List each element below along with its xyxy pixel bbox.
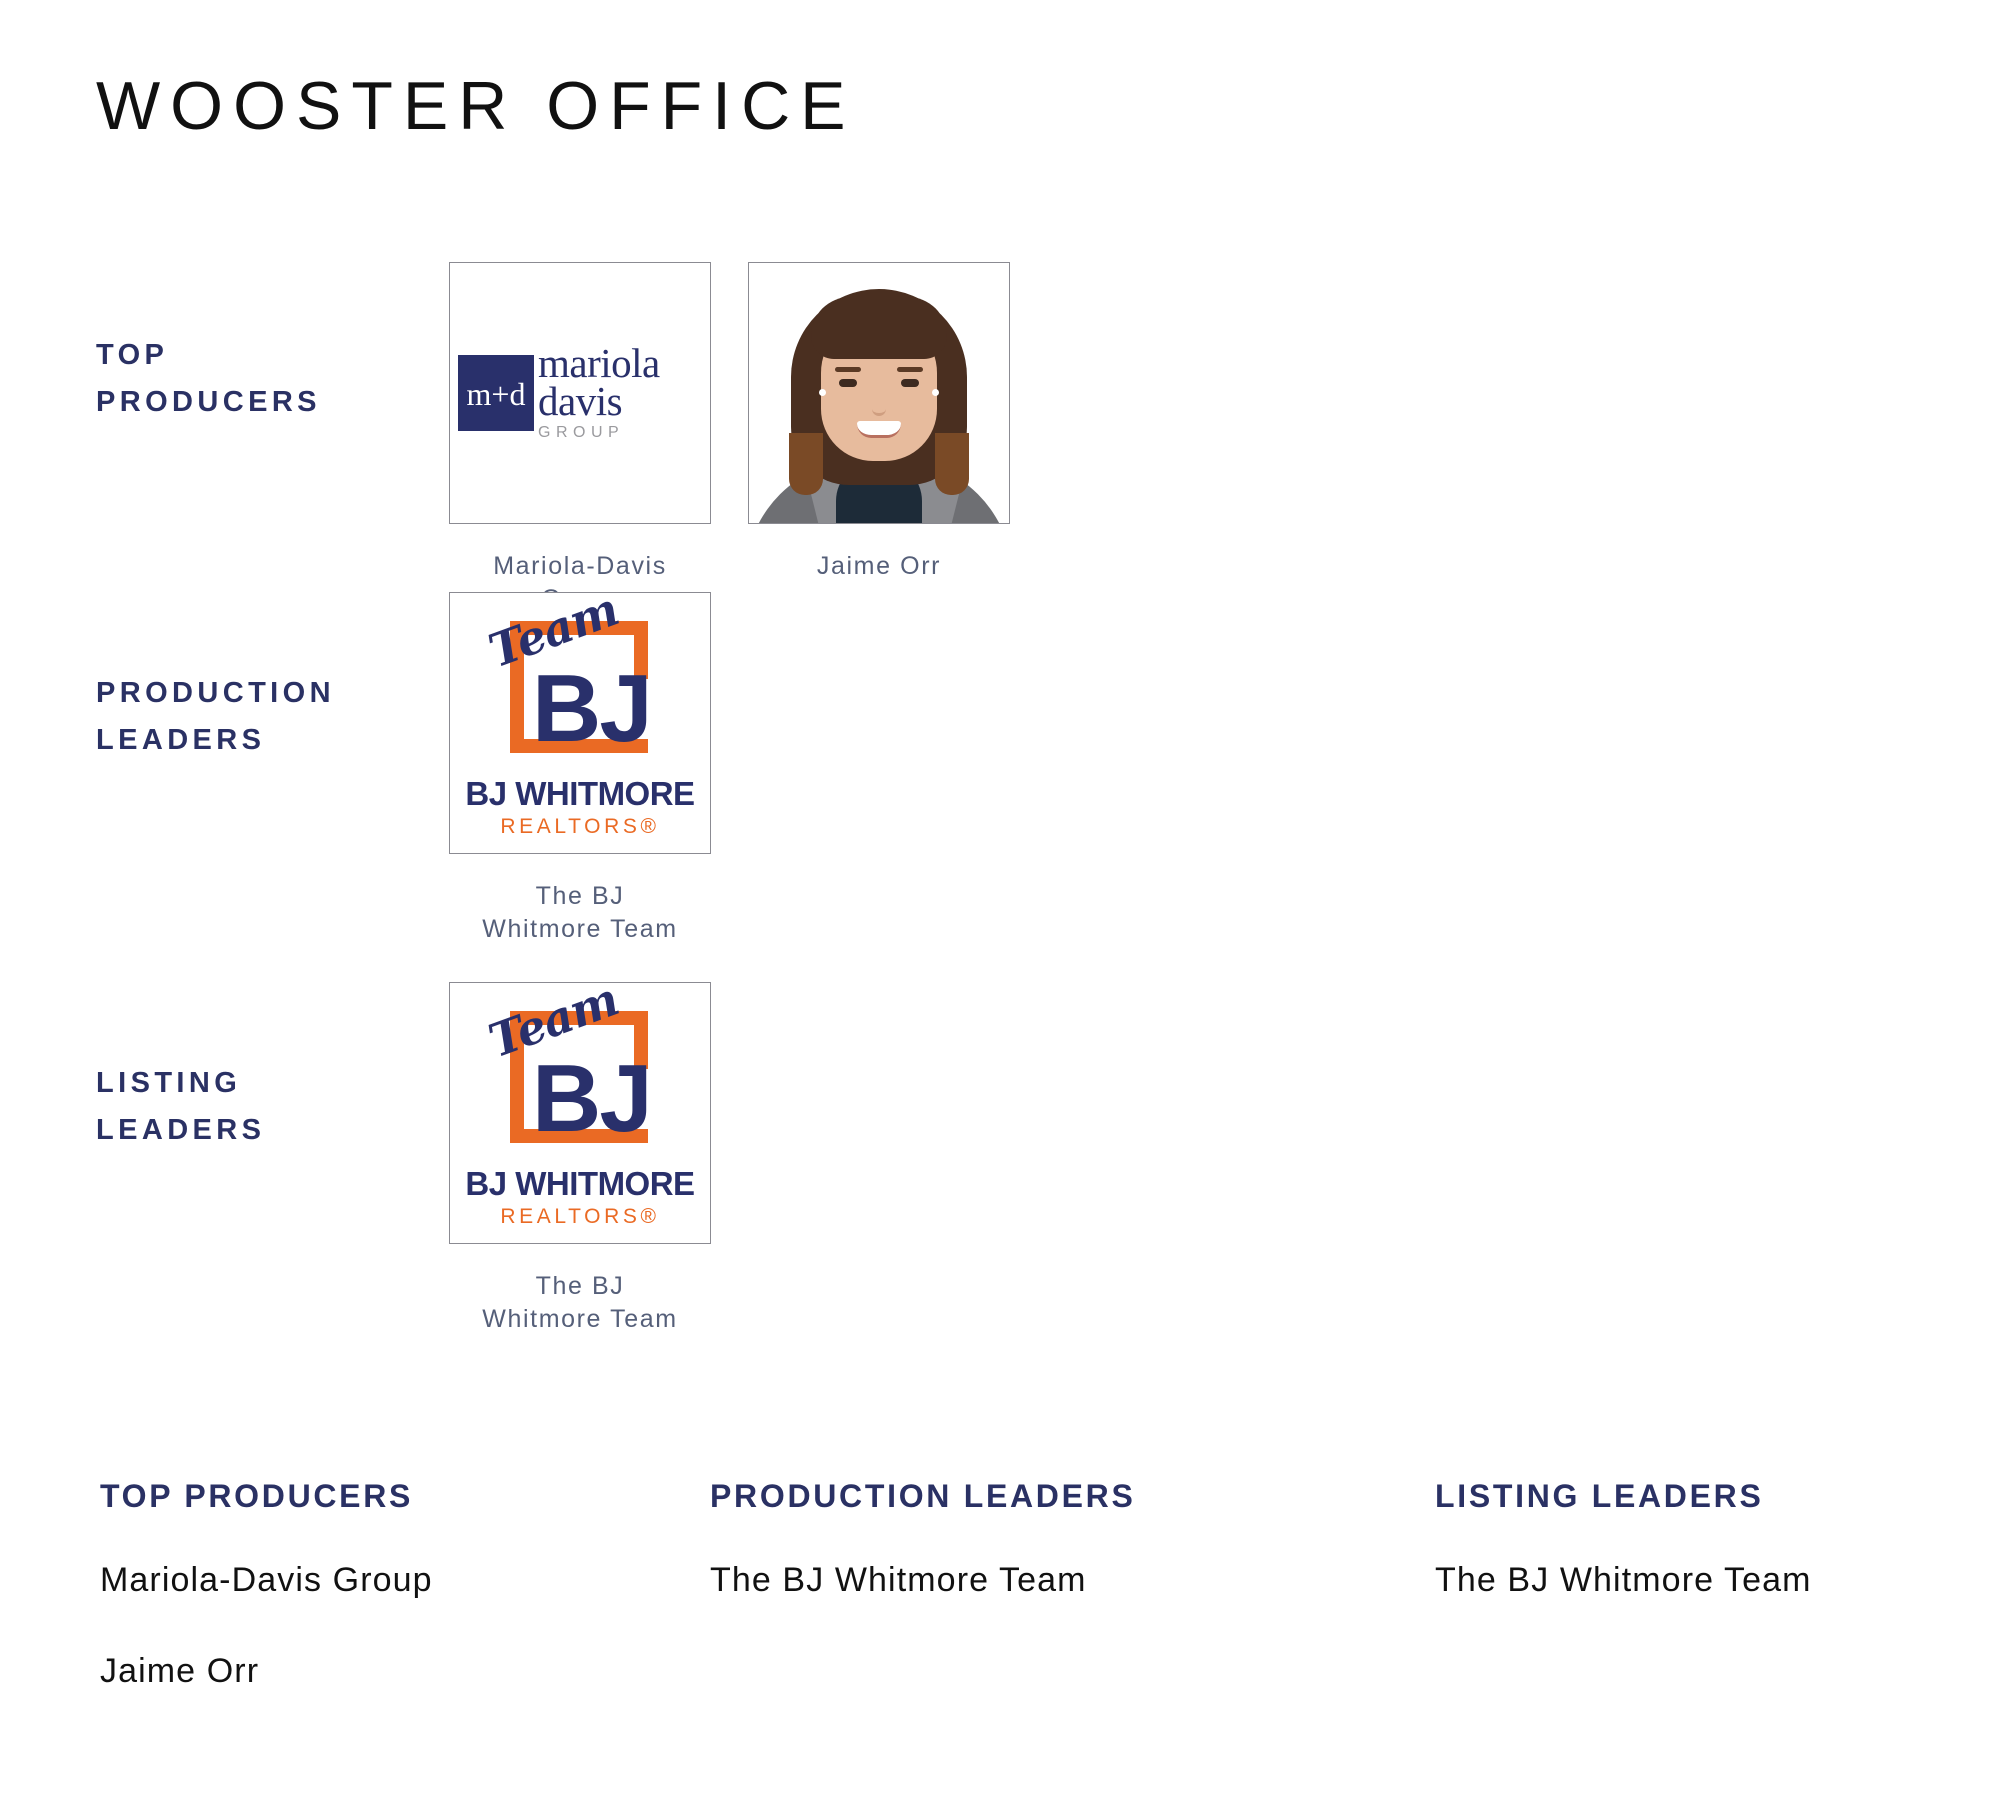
summary-list-item: Jaime Orr xyxy=(100,1652,660,1691)
award-tile[interactable]: m+d mariola davis GROUP Mariola-Davis Gr… xyxy=(448,262,712,616)
tile-image-frame xyxy=(748,262,1010,524)
tile-group-top-producers: m+d mariola davis GROUP Mariola-Davis Gr… xyxy=(448,262,1046,616)
earring-left xyxy=(819,389,826,396)
tile-group-production-leaders: Team BJ BJ WHITMORE REALTORS® The BJ Whi… xyxy=(448,592,747,946)
bj-name-text: BJ WHITMORE xyxy=(450,775,710,813)
bj-name-text: BJ WHITMORE xyxy=(450,1165,710,1203)
award-rows: TOP PRODUCERS m+d mariola davis GROUP xyxy=(0,262,2000,1372)
row-label-line-2: PRODUCERS xyxy=(96,379,426,426)
row-label-line-2: LEADERS xyxy=(96,717,426,764)
row-label-line-1: PRODUCTION xyxy=(96,670,426,717)
smile-shape xyxy=(857,421,901,438)
award-row-listing-leaders: LISTING LEADERS Team BJ BJ WHITMORE REAL… xyxy=(0,982,2000,1372)
jaime-orr-headshot-photo xyxy=(749,263,1009,523)
summary-list: The BJ Whitmore Team xyxy=(1435,1561,1995,1600)
summary-list: Mariola-Davis Group Jaime Orr xyxy=(100,1561,660,1691)
bj-whitmore-team-logo-icon: Team BJ BJ WHITMORE REALTORS® xyxy=(450,593,710,853)
mariola-davis-group-logo-icon: m+d mariola davis GROUP xyxy=(450,263,710,523)
tile-caption: The BJ Whitmore Team xyxy=(473,880,688,946)
tile-image-frame: Team BJ BJ WHITMORE REALTORS® xyxy=(449,982,711,1244)
bj-initials-text: BJ xyxy=(532,1051,651,1147)
row-label-listing-leaders: LISTING LEADERS xyxy=(96,1060,426,1154)
hair-fringe xyxy=(811,297,947,359)
award-tile[interactable]: Jaime Orr xyxy=(747,262,1011,583)
md-monogram-square: m+d xyxy=(458,355,534,431)
summary-list-item: Mariola-Davis Group xyxy=(100,1561,660,1600)
eyebrow-right xyxy=(897,367,923,372)
award-tile[interactable]: Team BJ BJ WHITMORE REALTORS® The BJ Whi… xyxy=(448,982,712,1336)
eyebrow-left xyxy=(835,367,861,372)
eye-right xyxy=(901,379,919,387)
summary-heading: PRODUCTION LEADERS xyxy=(710,1478,1400,1515)
summary-list-item: The BJ Whitmore Team xyxy=(1435,1561,1995,1600)
eye-left xyxy=(839,379,857,387)
nose-shape xyxy=(872,397,886,416)
row-label-line-2: LEADERS xyxy=(96,1107,426,1154)
md-wordmark: mariola davis GROUP xyxy=(538,345,660,440)
bj-whitmore-team-logo-icon: Team BJ BJ WHITMORE REALTORS® xyxy=(450,983,710,1243)
bj-realtors-text: REALTORS® xyxy=(450,815,710,839)
bj-realtors-text: REALTORS® xyxy=(450,1205,710,1229)
summary-column-listing-leaders: LISTING LEADERS The BJ Whitmore Team xyxy=(1435,1478,1995,1652)
hair-tip-right xyxy=(935,433,969,495)
award-row-production-leaders: PRODUCTION LEADERS Team BJ BJ WHITMORE R… xyxy=(0,592,2000,982)
earring-right xyxy=(932,389,939,396)
tile-caption: The BJ Whitmore Team xyxy=(473,1270,688,1336)
summary-heading: LISTING LEADERS xyxy=(1435,1478,1995,1515)
award-row-top-producers: TOP PRODUCERS m+d mariola davis GROUP xyxy=(0,262,2000,592)
summary-list-item: The BJ Whitmore Team xyxy=(710,1561,1400,1600)
md-word-davis: davis xyxy=(538,383,622,421)
tile-caption: Jaime Orr xyxy=(772,550,987,583)
summary-column-production-leaders: PRODUCTION LEADERS The BJ Whitmore Team xyxy=(710,1478,1400,1652)
summary-heading: TOP PRODUCERS xyxy=(100,1478,660,1515)
row-label-top-producers: TOP PRODUCERS xyxy=(96,332,426,426)
row-label-production-leaders: PRODUCTION LEADERS xyxy=(96,670,426,764)
tile-group-listing-leaders: Team BJ BJ WHITMORE REALTORS® The BJ Whi… xyxy=(448,982,747,1336)
tile-image-frame: Team BJ BJ WHITMORE REALTORS® xyxy=(449,592,711,854)
page-title: WOOSTER OFFICE xyxy=(96,72,856,140)
row-label-line-1: LISTING xyxy=(96,1060,426,1107)
summary-list: The BJ Whitmore Team xyxy=(710,1561,1400,1600)
bj-initials-text: BJ xyxy=(532,661,651,757)
row-label-line-1: TOP xyxy=(96,332,426,379)
hair-tip-left xyxy=(789,433,823,495)
tile-image-frame: m+d mariola davis GROUP xyxy=(449,262,711,524)
md-monogram-text: m+d xyxy=(467,378,526,410)
md-word-group: GROUP xyxy=(538,426,624,441)
summary-column-top-producers: TOP PRODUCERS Mariola-Davis Group Jaime … xyxy=(100,1478,660,1743)
award-tile[interactable]: Team BJ BJ WHITMORE REALTORS® The BJ Whi… xyxy=(448,592,712,946)
